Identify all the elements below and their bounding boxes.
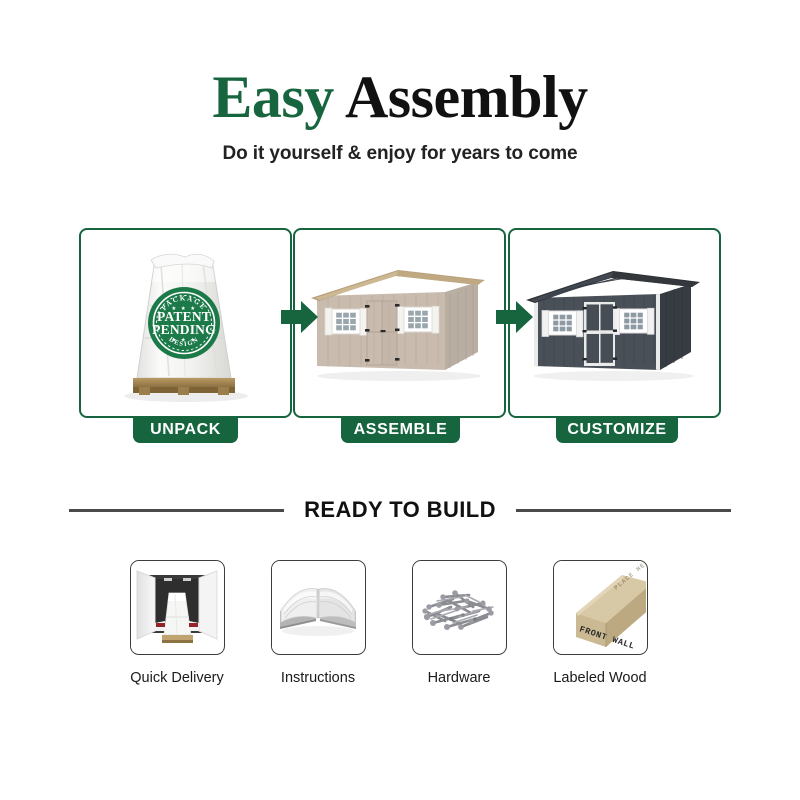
feature-label-instructions: Instructions xyxy=(243,670,393,686)
divider-rule-left xyxy=(69,509,284,512)
step-card-assemble[interactable] xyxy=(293,228,506,418)
page-title: Easy Assembly xyxy=(0,66,800,129)
arrow-unpack-to-assemble-icon xyxy=(281,300,319,339)
stamped-lumber-icon: PLACE HERE FRONT WALL xyxy=(554,561,647,654)
delivery-truck-with-pallet-icon xyxy=(131,561,224,654)
feature-label-hardware: Hardware xyxy=(384,670,534,686)
svg-text:PENDING: PENDING xyxy=(152,322,216,337)
feature-label-labeled-wood: Labeled Wood xyxy=(525,670,675,686)
step-card-customize[interactable] xyxy=(508,228,721,418)
finished-charcoal-shed-icon xyxy=(510,230,719,416)
feature-tile-hardware[interactable] xyxy=(412,560,507,655)
arrow-assemble-to-customize-icon xyxy=(496,300,534,339)
step-label-assemble: ASSEMBLE xyxy=(341,416,460,443)
steps-section: PACKAGE PATENT PENDING ★ ★ ★ ★ ★ ★ DESIG… xyxy=(0,228,800,443)
page-title-rest: Assembly xyxy=(345,64,588,130)
divider-title: READY TO BUILD xyxy=(304,497,496,523)
step-label-customize: CUSTOMIZE xyxy=(556,416,678,443)
easy-assembly-infographic: Easy Assembly Do it yourself & enjoy for… xyxy=(0,0,800,800)
svg-text:★ ★ ★: ★ ★ ★ xyxy=(171,305,196,312)
feature-tile-labeled-wood[interactable]: PLACE HERE FRONT WALL xyxy=(553,560,648,655)
pile-of-nails-icon xyxy=(413,561,506,654)
ready-to-build-divider: READY TO BUILD xyxy=(0,497,800,523)
header: Easy Assembly Do it yourself & enjoy for… xyxy=(0,0,800,165)
divider-rule-right xyxy=(516,509,731,512)
feature-tile-instructions[interactable] xyxy=(271,560,366,655)
page-subtitle: Do it yourself & enjoy for years to come xyxy=(0,143,800,165)
feature-tile-quick-delivery[interactable] xyxy=(130,560,225,655)
unfinished-tan-shed-icon xyxy=(295,230,504,416)
shrink-wrapped-pallet-icon: PACKAGE PATENT PENDING ★ ★ ★ ★ ★ ★ DESIG… xyxy=(81,230,290,416)
step-label-unpack: UNPACK xyxy=(133,416,238,443)
open-book-icon xyxy=(272,561,365,654)
page-title-accent: Easy xyxy=(212,64,333,130)
step-card-unpack[interactable]: PACKAGE PATENT PENDING ★ ★ ★ ★ ★ ★ DESIG… xyxy=(79,228,292,418)
feature-label-quick-delivery: Quick Delivery xyxy=(102,670,252,686)
